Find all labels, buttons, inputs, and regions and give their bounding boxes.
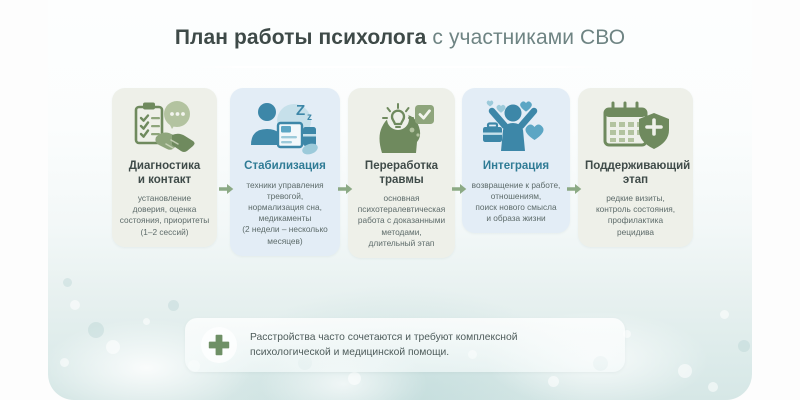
stage-body-line: установление [119,193,210,204]
stage-body-line: психотералевтическая [355,204,448,215]
stage-body-line: методами, [355,227,448,238]
calendar-shield-plus-icon [583,96,688,158]
sleeping-person-medication-icon: Z z [235,96,335,158]
stage-body-line: состояния, приоритеты [119,215,210,226]
stage-body-line: поиск нового смысла [469,202,563,213]
stage-title-line: Поддерживающий [585,160,686,174]
stage-body-line: редкие визиты, [585,193,686,204]
stage-title-line: и контакт [119,174,210,188]
stage-body-line: медикаменты [237,213,333,224]
stage-card-1[interactable]: Диагностикаи контактустановлениедоверия,… [112,88,217,247]
stage-title-line: Переработка [355,160,448,174]
stage-body-line: рецидива [585,227,686,238]
stage-title: Переработкатравмы [353,160,450,187]
stage-body-line: контроль состояния, [585,204,686,215]
stage-title: Поддерживающийэтап [583,160,688,187]
stage-body-line: доверия, оценка [119,204,210,215]
arrow-right-icon [567,182,582,194]
stage-title: Диагностикаи контакт [117,160,212,187]
stage-body-line: (2 недели – несколько [237,224,333,235]
infographic-poster: План работы психолога с участниками СВО … [0,0,800,400]
stage-body-line: длительный этап [355,238,448,249]
head-lightbulb-checkmark-icon [353,96,450,158]
stage-body-line: тревогой, [237,191,333,202]
stage-title: Стабилизация [235,160,335,174]
stage-body: техники управлениятревогой,нормализация … [235,180,335,247]
arrow-right-icon [338,182,353,194]
stage-title-line: травмы [355,174,448,188]
stage-card-5[interactable]: Поддерживающийэтапредкие визиты,контроль… [578,88,693,247]
banner-text: Расстройства часто сочетаются и требуют … [250,330,517,361]
stage-body-line: нормализация сна, [237,202,333,213]
footer-banner: Расстройства часто сочетаются и требуют … [185,318,625,372]
stage-body-line: (1–2 сессий) [119,227,210,238]
person-raised-arms-hearts-briefcase-icon [467,96,565,158]
banner-line-1: Расстройства часто сочетаются и требуют … [250,330,517,346]
stage-title-line: Диагностика [119,160,210,174]
stage-body-line: и образа жизни [469,213,563,224]
svg-text:z: z [307,112,312,123]
clipboard-checklist-handshake-icon [117,96,212,158]
medical-cross-icon [201,327,237,363]
arrow-right-icon [452,182,467,194]
stage-title-line: Интеграция [469,160,563,174]
svg-text:Z: Z [296,102,305,119]
stage-title-line: Стабилизация [237,160,333,174]
stage-body: установлениедоверия, оценкасостояния, пр… [117,193,212,238]
stage-body-line: возвращение к работе, [469,180,563,191]
stage-body-line: отношениям, [469,191,563,202]
stage-title: Интеграция [467,160,565,174]
stage-card-4[interactable]: Интеграциявозвращение к работе,отношения… [462,88,570,233]
stage-body-line: работа с доказанными [355,215,448,226]
stage-body-line: основная [355,193,448,204]
stage-body: возвращение к работе,отношениям,поиск но… [467,180,565,225]
stage-body: редкие визиты,контроль состояния,профила… [583,193,688,238]
stage-card-2[interactable]: Z z Стабилизациятехники управлениятревог… [230,88,340,256]
stage-body-line: техники управления [237,180,333,191]
stage-body-line: месяцев) [237,236,333,247]
arrow-right-icon [219,182,234,194]
stage-body-line: профилактика [585,215,686,226]
banner-line-2: психологической и медицинской помощи. [250,345,517,361]
stage-title-line: этап [585,174,686,188]
stage-body: основнаяпсихотералевтическаяработа с док… [353,193,450,249]
stage-card-3[interactable]: Переработкатравмыосновнаяпсихотералевтич… [348,88,455,258]
